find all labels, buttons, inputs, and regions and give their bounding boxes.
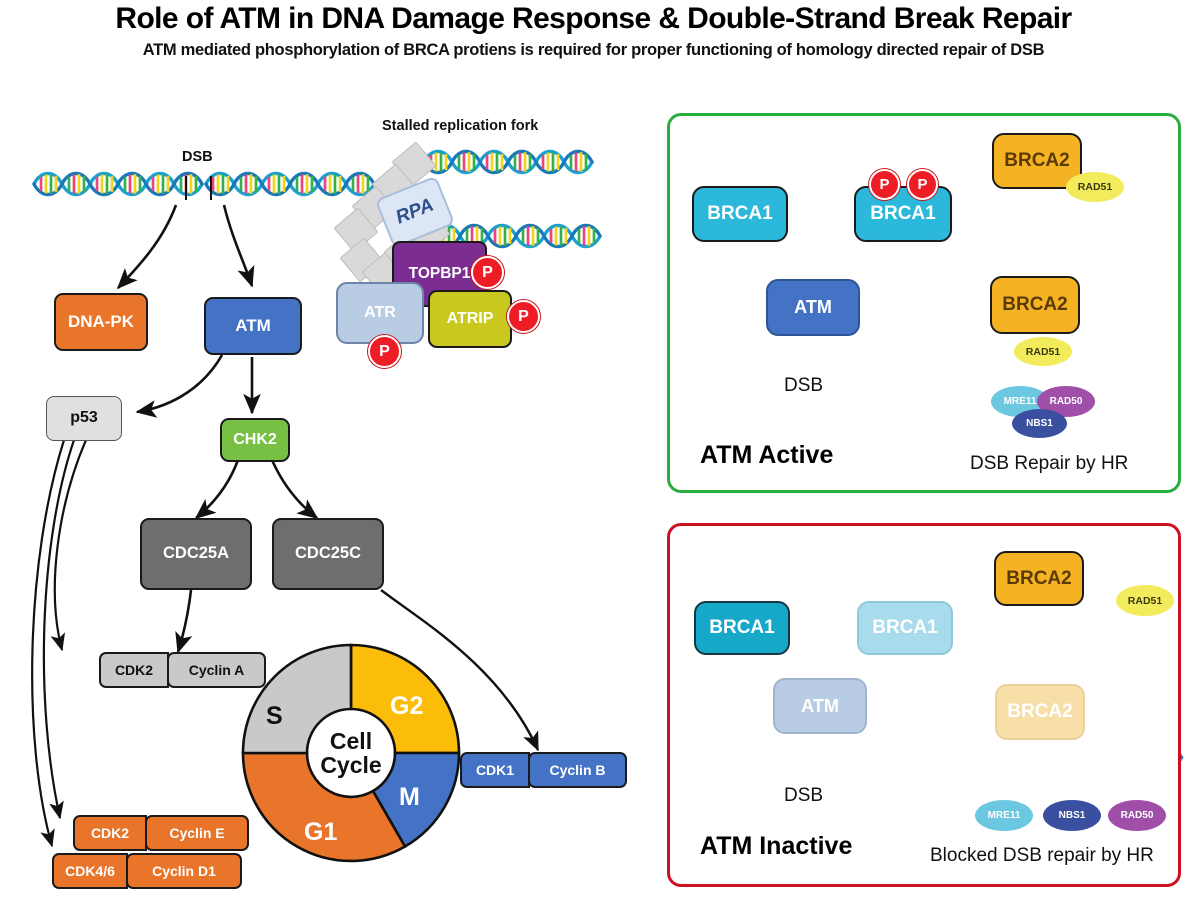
phospho-badge-topbp1: P <box>471 256 504 289</box>
phospho-badge-label: P <box>518 308 529 326</box>
active-atm-label: ATM <box>794 298 832 317</box>
active-outcome-label: DSB Repair by HR <box>970 453 1128 475</box>
node-p53[interactable]: p53 <box>46 396 122 441</box>
pair-cdk2-cyclin-a[interactable]: CDK2 Cyclin A <box>99 652 266 688</box>
node-atr-label: ATR <box>364 305 396 322</box>
inactive-atm[interactable]: ATM <box>773 678 867 734</box>
phospho-badge-brca1-a: P <box>869 169 900 200</box>
node-atm-label: ATM <box>235 317 271 335</box>
node-cdc25c-label: CDC25C <box>295 545 361 562</box>
inactive-panel-title: ATM Inactive <box>700 832 852 861</box>
node-atm[interactable]: ATM <box>204 297 302 355</box>
arrow-atm-to-p53 <box>137 355 222 412</box>
cc-center-line1: Cell <box>330 729 372 753</box>
active-atm[interactable]: ATM <box>766 279 860 336</box>
inactive-mrn-mre11-label: MRE11 <box>988 810 1021 821</box>
pair-cdk2-cyclin-e[interactable]: CDK2 Cyclin E <box>73 815 249 851</box>
arrow-p53-to-cyclin-e <box>44 440 74 818</box>
phospho-badge-atrip: P <box>507 300 540 333</box>
inactive-mrn-mre11: MRE11 <box>975 800 1033 831</box>
node-dna-pk-label: DNA-PK <box>68 313 134 331</box>
active-rad51-bottom-label: RAD51 <box>1026 346 1060 358</box>
phospho-badge-label: P <box>917 176 927 193</box>
inactive-brca2[interactable]: BRCA2 <box>994 551 1084 606</box>
inactive-brca1-faded-label: BRCA1 <box>872 618 937 638</box>
pair-kinase-label: CDK1 <box>476 762 514 778</box>
inactive-mrn-nbs1: NBS1 <box>1043 800 1101 831</box>
active-brca2-bottom[interactable]: BRCA2 <box>990 276 1080 334</box>
rpa-label: RPA <box>393 195 437 230</box>
node-cdc25a-label: CDC25A <box>163 545 229 562</box>
active-brca1[interactable]: BRCA1 <box>692 186 788 242</box>
pair-cyclin-label: Cyclin D1 <box>152 863 216 879</box>
inactive-mrn-nbs1-label: NBS1 <box>1059 810 1086 821</box>
phospho-badge-label: P <box>379 343 390 361</box>
active-dsb-label: DSB <box>784 375 823 397</box>
active-rad51-top-label: RAD51 <box>1078 181 1112 193</box>
active-rad51-top: RAD51 <box>1066 172 1124 202</box>
pair-kinase: CDK2 <box>73 815 147 851</box>
active-brca2-bottom-label: BRCA2 <box>1002 295 1067 315</box>
pair-cyclin-label: Cyclin B <box>549 762 605 778</box>
node-dna-pk[interactable]: DNA-PK <box>54 293 148 351</box>
pair-kinase: CDK1 <box>460 752 530 788</box>
active-mrn-nbs1: NBS1 <box>1012 409 1067 438</box>
inactive-brca2-faded[interactable]: BRCA2 <box>995 684 1085 740</box>
pair-cdk1-cyclin-b[interactable]: CDK1 Cyclin B <box>460 752 627 788</box>
active-brca1-phos-label: BRCA1 <box>870 204 935 224</box>
inactive-mrn-rad50-label: RAD50 <box>1121 810 1154 821</box>
active-mrn-mre11-label: MRE11 <box>1004 396 1037 407</box>
node-cdc25a[interactable]: CDC25A <box>140 518 252 590</box>
inactive-brca1-label: BRCA1 <box>709 618 774 638</box>
inactive-brca1-faded[interactable]: BRCA1 <box>857 601 953 655</box>
page-title: Role of ATM in DNA Damage Response & Dou… <box>0 2 1187 36</box>
pair-cyclin: Cyclin D1 <box>126 853 242 889</box>
arrow-dsb-to-dnapk <box>118 205 176 288</box>
pair-cyclin-label: Cyclin A <box>189 662 245 678</box>
arrow-chk2-to-cdc25a <box>196 460 238 518</box>
pair-cdk46-cyclin-d1[interactable]: CDK4/6 Cyclin D1 <box>52 853 242 889</box>
active-mrn-nbs1-label: NBS1 <box>1026 418 1053 429</box>
pair-kinase: CDK4/6 <box>52 853 128 889</box>
arrow-p53-to-cyclin-d1 <box>32 440 64 846</box>
cell-cycle-center-label: Cell Cycle <box>291 713 411 793</box>
phospho-badge-brca1-b: P <box>907 169 938 200</box>
cell-cycle-diagram: G2 M G1 S Cell Cycle <box>238 640 464 866</box>
dsb-label-left: DSB <box>182 149 213 165</box>
arrow-chk2-to-cdc25c <box>272 460 317 518</box>
phospho-badge-label: P <box>879 176 889 193</box>
inactive-dsb-label: DSB <box>784 785 823 807</box>
pair-kinase-label: CDK2 <box>91 825 129 841</box>
node-cdc25c[interactable]: CDC25C <box>272 518 384 590</box>
pair-kinase-label: CDK4/6 <box>65 863 115 879</box>
node-atrip[interactable]: ATRIP <box>428 290 512 348</box>
cc-center-line2: Cycle <box>320 753 381 777</box>
node-topbp1-label: TOPBP1 <box>409 266 471 282</box>
inactive-outcome-label: Blocked DSB repair by HR <box>930 845 1154 867</box>
dna-strand-dsb-right <box>206 174 374 195</box>
inactive-atm-label: ATM <box>801 697 839 716</box>
phospho-badge-label: P <box>482 264 493 282</box>
inactive-mrn-rad50: RAD50 <box>1108 800 1166 831</box>
cc-label-s: S <box>266 702 283 731</box>
stalled-fork-label: Stalled replication fork <box>382 118 538 134</box>
pair-cyclin: Cyclin B <box>528 752 627 788</box>
active-brca1-label: BRCA1 <box>707 204 772 224</box>
node-chk2-label: CHK2 <box>233 432 277 449</box>
dna-fork-upper <box>424 152 592 173</box>
node-p53-label: p53 <box>70 410 98 427</box>
node-chk2[interactable]: CHK2 <box>220 418 290 462</box>
active-brca1-phosphorylated[interactable]: BRCA1 <box>854 186 952 242</box>
inactive-brca2-faded-label: BRCA2 <box>1007 702 1072 722</box>
inactive-brca2-label: BRCA2 <box>1006 569 1071 589</box>
arrow-p53-to-cyclina <box>55 440 86 650</box>
inactive-brca1[interactable]: BRCA1 <box>694 601 790 655</box>
dna-strand-dsb-left <box>34 174 202 195</box>
page-subtitle: ATM mediated phosphorylation of BRCA pro… <box>0 41 1187 60</box>
node-atrip-label: ATRIP <box>447 311 494 328</box>
pair-cyclin-label: Cyclin E <box>169 825 224 841</box>
pair-cyclin: Cyclin E <box>145 815 249 851</box>
active-panel-title: ATM Active <box>700 441 833 470</box>
arrow-dsb-to-atm <box>224 205 252 286</box>
pair-kinase: CDK2 <box>99 652 169 688</box>
active-rad51-bottom: RAD51 <box>1014 337 1072 366</box>
arrow-cdc25a-to-cyclina <box>178 590 191 652</box>
pair-cyclin: Cyclin A <box>167 652 266 688</box>
active-mrn-rad50-label: RAD50 <box>1050 396 1083 407</box>
diagram-canvas: Role of ATM in DNA Damage Response & Dou… <box>0 0 1187 899</box>
inactive-rad51-label: RAD51 <box>1128 595 1162 607</box>
cc-label-g1: G1 <box>304 818 337 847</box>
phospho-badge-atr: P <box>368 335 401 368</box>
pair-kinase-label: CDK2 <box>115 662 153 678</box>
active-brca2-top-label: BRCA2 <box>1004 151 1069 171</box>
inactive-rad51: RAD51 <box>1116 585 1174 616</box>
